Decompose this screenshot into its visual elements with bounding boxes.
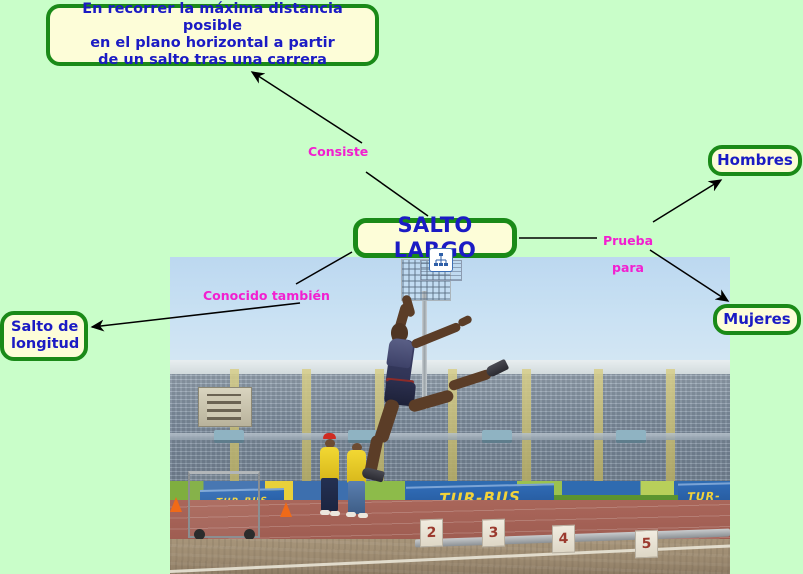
distance-marker: 3 <box>482 519 505 548</box>
athlete-extended-arm <box>410 322 462 350</box>
edge-label-prueba-line-2: para <box>600 261 656 275</box>
edge-label-prueba-line-1: Prueba <box>600 234 656 248</box>
concept-map-canvas: TUR-BUS TUR-BUS TUR-BUS 2 3 4 5 <box>0 0 803 574</box>
diagram-thumbnail-icon[interactable] <box>418 248 462 280</box>
long-jump-athlete <box>360 297 550 477</box>
connector-main-to-definition <box>252 72 362 143</box>
distance-marker: 4 <box>552 525 575 554</box>
stadium-aisle <box>594 369 603 481</box>
traffic-cone <box>170 497 182 512</box>
distance-marker: 2 <box>420 519 443 548</box>
official-legs <box>348 481 365 514</box>
field-equipment-box <box>198 387 252 427</box>
official-jacket <box>320 447 339 480</box>
stadium-aisle <box>302 369 311 481</box>
long-jump-photograph: TUR-BUS TUR-BUS TUR-BUS 2 3 4 5 <box>170 257 730 574</box>
edge-label-consiste: Consiste <box>308 145 368 159</box>
athlete-hand <box>457 314 473 327</box>
official-shoe <box>346 512 356 517</box>
definition-line-2: en el plano horizontal a partir <box>56 35 369 52</box>
connector-main-up-segment <box>366 172 428 216</box>
org-chart-icon <box>429 248 453 272</box>
hurdle-cart <box>188 471 260 538</box>
connector-prueba-to-hombres <box>653 180 721 222</box>
edge-label-prueba-para: Prueba para <box>600 220 656 289</box>
salto-longitud-line-1: Salto de <box>11 319 79 336</box>
salto-longitud-box[interactable]: Salto de longitud <box>0 311 88 361</box>
definition-line-3: de un salto tras una carrera <box>56 52 369 69</box>
stadium-aisle <box>666 369 675 481</box>
traffic-cone <box>280 502 292 517</box>
official-shoe <box>330 511 340 516</box>
athlete-vest <box>386 337 414 368</box>
official-legs <box>321 478 338 511</box>
salto-longitud-line-2: longitud <box>11 336 79 353</box>
official-shoe <box>358 513 368 518</box>
definition-box[interactable]: En recorrer la máxima distancia posible … <box>46 4 379 66</box>
hombres-box[interactable]: Hombres <box>708 145 802 176</box>
stadium-speaker-pod <box>214 430 244 443</box>
official-shoe <box>320 510 330 515</box>
athlete-spike-shoe <box>485 359 510 379</box>
edge-label-conocido-tambien: Conocido también <box>203 289 330 303</box>
stadium-speaker-pod <box>616 430 646 443</box>
mujeres-box[interactable]: Mujeres <box>713 304 801 335</box>
distance-marker: 5 <box>635 530 658 559</box>
definition-line-1: En recorrer la máxima distancia posible <box>56 1 369 35</box>
